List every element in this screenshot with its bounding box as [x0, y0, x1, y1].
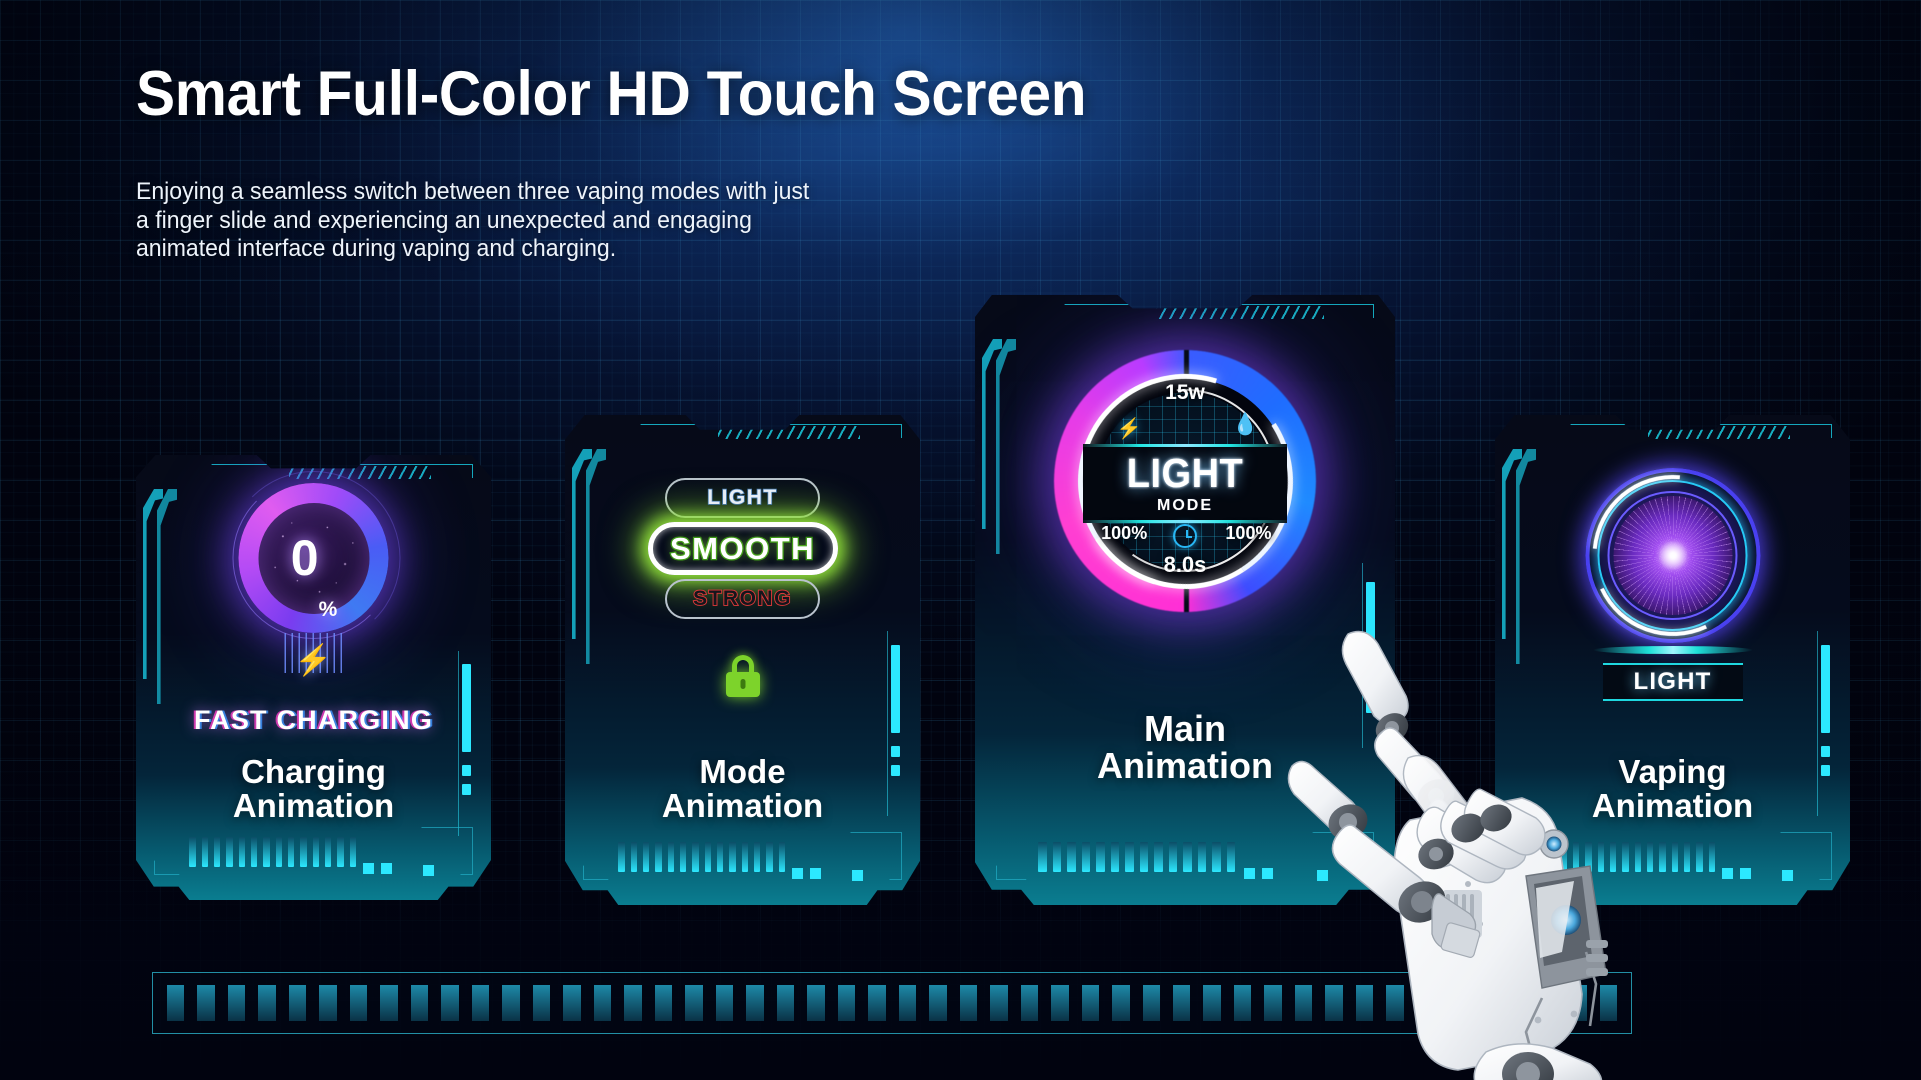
vaping-orb [1585, 468, 1760, 643]
card1-caption: Charging Animation [136, 755, 491, 823]
mode-option-light[interactable]: LIGHT [665, 478, 820, 518]
mode-option-strong-label: STRONG [693, 587, 792, 611]
dial-percent-left: 100% [1101, 523, 1147, 544]
mode-switcher[interactable]: LIGHT SMOOTH STRONG [648, 478, 838, 619]
card1-dot-pair [363, 863, 392, 874]
card1-caption-line2: Animation [136, 789, 491, 823]
card2-corner-bracket [572, 449, 606, 679]
card4-dot-pair [1722, 868, 1751, 879]
card-charging-animation[interactable]: 0% ⚡ FAST CHARGING Charging Animation [136, 455, 491, 900]
card1-dot [423, 865, 434, 876]
dial-duration: 8.0s [1054, 552, 1316, 578]
mode-option-strong[interactable]: STRONG [665, 579, 820, 619]
card2-caption-line1: Mode [565, 755, 920, 789]
charge-percent: 0% [239, 483, 389, 633]
fast-charging-label: FAST CHARGING [136, 705, 491, 736]
card3-dot-pair [1244, 868, 1273, 879]
lock-icon [726, 655, 760, 697]
card2-caption-line2: Animation [565, 789, 920, 823]
page-subtitle: Enjoying a seamless switch between three… [136, 178, 1097, 264]
charging-screen: 0% ⚡ [211, 483, 416, 713]
card3-corner-bracket [982, 339, 1016, 569]
charge-ring: 0% [239, 483, 389, 633]
header: Smart Full-Color HD Touch Screen Enjoyin… [136, 58, 1158, 264]
charge-percent-unit: % [319, 598, 337, 622]
subtitle-line-2: a finger slide and experiencing an unexp… [136, 207, 1097, 236]
charge-percent-value: 0 [291, 529, 318, 587]
mode-option-smooth[interactable]: SMOOTH [648, 522, 838, 575]
card1-caption-line1: Charging [136, 755, 491, 789]
card1-corner-bracket [143, 489, 177, 719]
subtitle-line-1: Enjoying a seamless switch between three… [136, 178, 1097, 207]
mode-option-light-label: LIGHT [707, 486, 778, 510]
dial-percent-right: 100% [1225, 523, 1271, 544]
lightning-bolt-icon: ⚡ [295, 643, 332, 678]
card2-dot-pair [792, 868, 821, 879]
card-mode-animation[interactable]: LIGHT SMOOTH STRONG Mode An [565, 415, 920, 905]
dial-mode-band: LIGHT MODE [1083, 444, 1287, 523]
poster-canvas: Smart Full-Color HD Touch Screen Enjoyin… [0, 0, 1921, 1080]
page-title: Smart Full-Color HD Touch Screen [136, 58, 1086, 130]
card4-dot [1782, 870, 1793, 881]
vaping-energy-burst [1613, 496, 1732, 615]
water-drop-icon: 💧 [1232, 413, 1258, 437]
card2-dot [852, 870, 863, 881]
dial-mode-name: LIGHT [1127, 451, 1243, 497]
subtitle-line-3: animated interface during vaping and cha… [136, 235, 1097, 264]
dial-mode-sub: MODE [1157, 497, 1213, 515]
dial-wattage: 15w [1054, 381, 1316, 405]
mode-option-smooth-label: SMOOTH [670, 531, 815, 567]
robot-hand-pointing [1290, 622, 1650, 1080]
card2-caption: Mode Animation [565, 755, 920, 823]
clock-icon [1173, 524, 1197, 548]
lightning-bolt-icon: ⚡ [1117, 416, 1142, 441]
main-dial: 15w ⚡ 💧 LIGHT MODE 100% 100% 8.0s [1054, 350, 1316, 612]
